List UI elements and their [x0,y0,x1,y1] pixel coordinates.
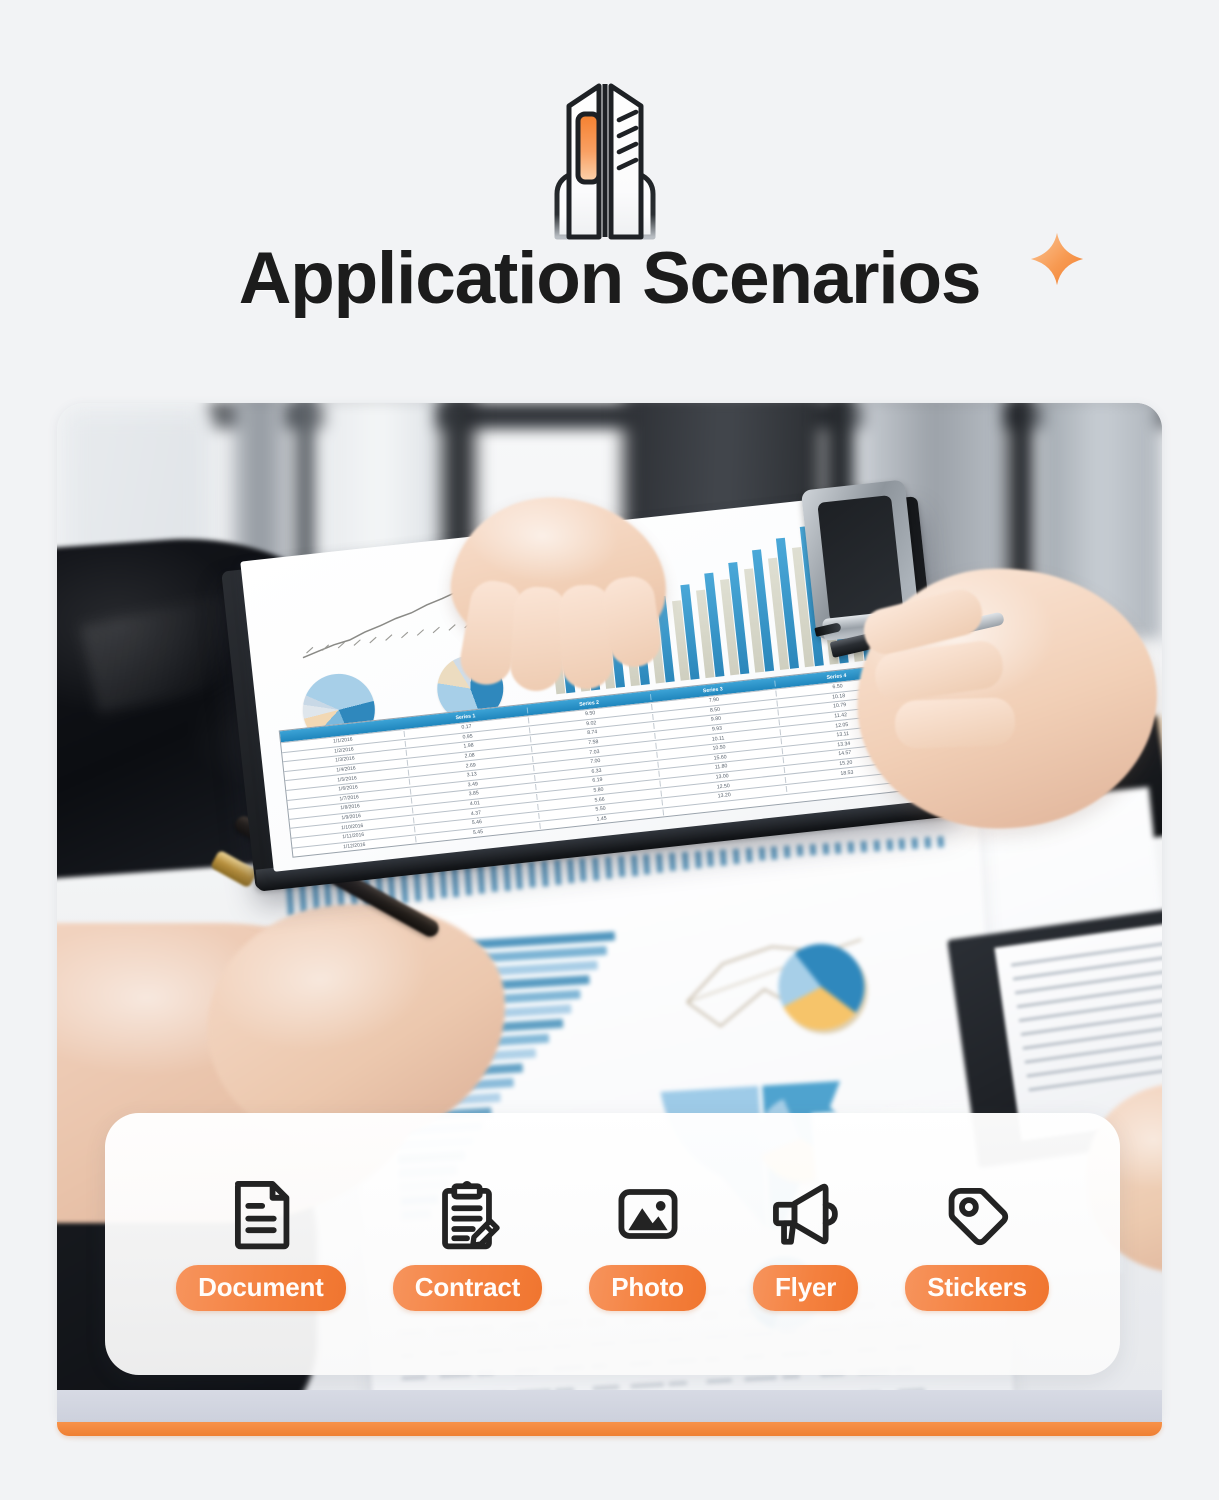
scenario-badge-document[interactable]: Document [176,1177,346,1311]
background-tick [835,842,842,854]
card-bottom-accent-bar [57,1422,1162,1436]
scenario-badge-flyer[interactable]: Flyer [753,1177,858,1311]
finger [894,697,1016,749]
clipboard-pencil-icon [430,1177,504,1251]
background-tick [669,853,676,872]
sparkle-star-icon [1028,230,1086,288]
scenario-badge-label: Flyer [753,1265,858,1311]
background-tick [822,843,829,855]
background-tick [924,837,931,849]
background-tick [886,839,893,851]
background-tick [771,846,778,859]
scenario-badge-contract[interactable]: Contract [393,1177,542,1311]
background-tick [848,842,855,854]
scenario-badge-label: Photo [589,1265,706,1311]
price-tag-icon [940,1177,1014,1251]
scenario-badge-panel: DocumentContractPhotoFlyerStickers [105,1113,1120,1375]
background-tick [720,849,727,865]
card-bottom-band [57,1390,1162,1424]
background-tick [733,849,740,864]
header-section: Application Scenarios [0,0,1219,390]
building-skyscraper-icon [495,62,715,247]
background-tick [912,838,919,850]
background-text-line [706,1378,732,1384]
image-icon [611,1177,685,1251]
background-tick [873,840,880,852]
background-text-line [630,1382,664,1388]
background-tick [899,839,906,851]
scenario-badge-photo[interactable]: Photo [589,1177,706,1311]
scenario-badge-label: Document [176,1265,346,1311]
background-tick [682,852,689,870]
background-tick [861,841,868,853]
scenario-badge-row: DocumentContractPhotoFlyerStickers [105,1113,1120,1375]
clipboard-clip-inner [817,495,904,622]
background-tick [746,848,753,862]
document-icon [224,1177,298,1251]
scenario-badge-label: Stickers [905,1265,1049,1311]
background-tick [937,836,944,848]
background-tick [797,845,804,857]
megaphone-icon [769,1177,843,1251]
background-tick [809,844,816,856]
background-text-line [668,1381,687,1386]
scenario-badge-stickers[interactable]: Stickers [905,1177,1049,1311]
background-tick [694,851,701,868]
background-tick [758,847,765,861]
scenario-badge-label: Contract [393,1265,542,1311]
background-tick [784,846,791,858]
background-text-line [401,1375,426,1381]
background-text-line [744,1375,777,1381]
background-tick [707,850,714,867]
